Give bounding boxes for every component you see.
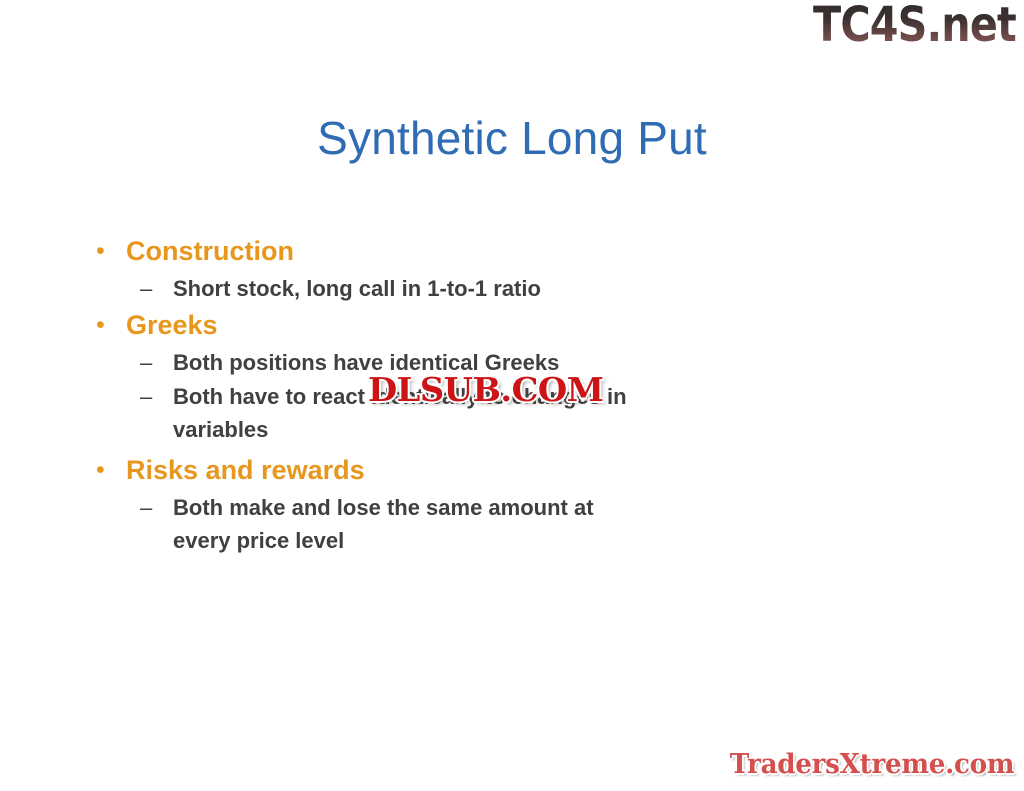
bullet-group-risks-and-rewards: • Risks and rewards – Both make and lose… [88,451,688,557]
dash-icon: – [88,380,173,413]
bullet-heading-construction: Construction [126,232,294,270]
bullet-group-construction: • Construction – Short stock, long call … [88,232,688,305]
page-title: Synthetic Long Put [0,108,1024,168]
bullet-item-construction: • Construction [88,232,688,270]
sub-bullet-item: – Both make and lose the same amount at … [88,491,688,557]
dlsub-watermark: DLSUB.COM [368,371,603,409]
tc4s-brand-logo: TC4S.net [813,0,1016,52]
bullet-dot-icon: • [88,451,126,489]
sub-bullet-text: Both make and lose the same amount at ev… [173,491,643,557]
bullet-dot-icon: • [88,306,126,344]
bullet-item-greeks: • Greeks [88,306,688,344]
bullet-heading-greeks: Greeks [126,306,218,344]
tradersxtreme-footer-logo: TradersXtreme.com [730,749,1014,781]
dash-icon: – [88,272,173,305]
sub-bullet-text: Short stock, long call in 1-to-1 ratio [173,272,541,305]
dash-icon: – [88,346,173,379]
bullet-heading-risks-and-rewards: Risks and rewards [126,451,365,489]
presentation-slide: TC4S.net Synthetic Long Put • Constructi… [0,0,1024,791]
dash-icon: – [88,491,173,524]
sub-bullet-item: – Short stock, long call in 1-to-1 ratio [88,272,688,305]
bullet-dot-icon: • [88,232,126,270]
bullet-item-risks-and-rewards: • Risks and rewards [88,451,688,489]
